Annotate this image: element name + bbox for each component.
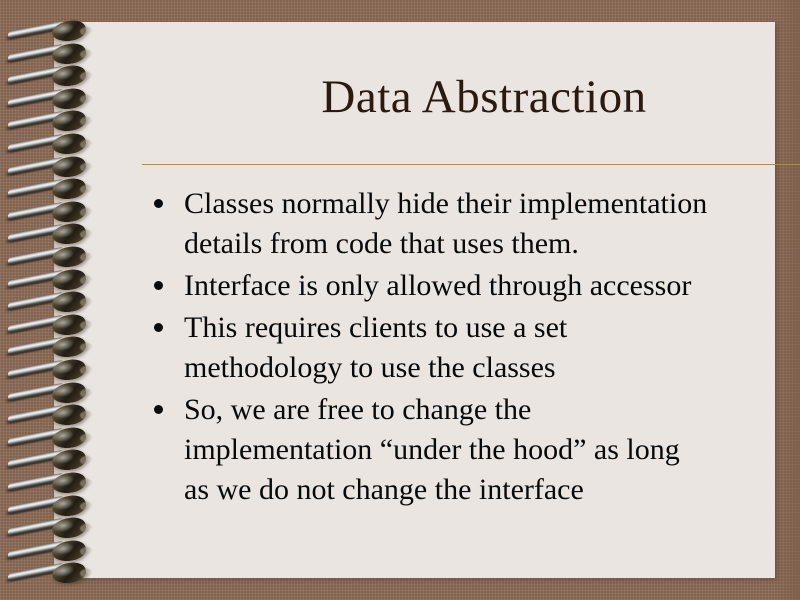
list-item: Interface is only allowed through access…	[150, 266, 800, 306]
notebook-page: Data Abstraction Classes normally hide t…	[54, 22, 775, 578]
bullet-dot-icon	[154, 199, 163, 208]
list-item-text: This requires clients to use a set metho…	[184, 308, 800, 388]
bullet-dot-icon	[154, 281, 163, 290]
bullet-dot-icon	[154, 323, 163, 332]
bullet-list: Classes normally hide their implementati…	[150, 184, 800, 512]
page-left-edge-shading	[54, 22, 70, 578]
list-item: Classes normally hide their implementati…	[150, 184, 800, 264]
presentation-slide: Data Abstraction Classes normally hide t…	[0, 0, 800, 600]
list-item-text: Classes normally hide their implementati…	[184, 184, 800, 264]
list-item-text: Interface is only allowed through access…	[184, 266, 800, 306]
list-item: So, we are free to change the implementa…	[150, 390, 800, 510]
title-divider-rule	[142, 164, 800, 165]
slide-title: Data Abstraction	[142, 74, 800, 121]
list-item: This requires clients to use a set metho…	[150, 308, 800, 388]
bullet-dot-icon	[154, 405, 163, 414]
list-item-text: So, we are free to change the implementa…	[184, 390, 800, 510]
